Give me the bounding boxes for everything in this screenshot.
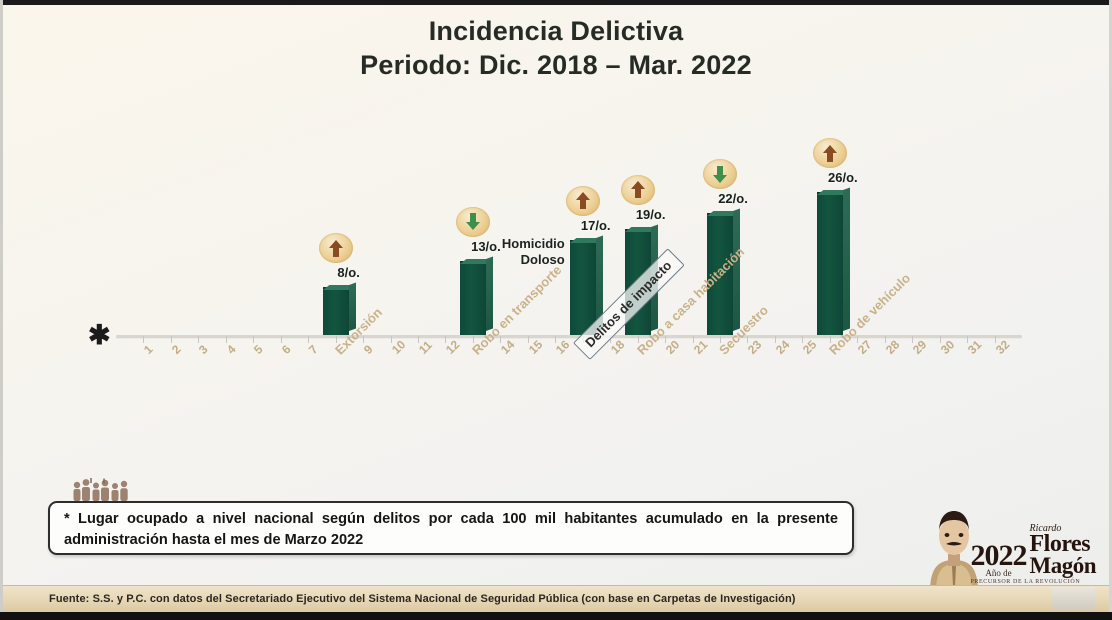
- x-axis-tick-number: 5: [251, 342, 266, 357]
- x-axis-tick: [885, 336, 886, 343]
- bar-value-label: 17/o.: [566, 218, 626, 233]
- x-axis-tick: [391, 336, 392, 343]
- bar-chart: ✱ 12345679101112141516182021232425272829…: [80, 100, 1040, 350]
- callout-line-2: Doloso: [521, 252, 565, 267]
- chart-bar[interactable]: [570, 240, 596, 336]
- source-text: Fuente: S.S. y P.C. con datos del Secret…: [3, 593, 796, 605]
- arrow-up-icon: [319, 233, 353, 263]
- arrow-up-icon: [621, 175, 655, 205]
- x-axis-tick-number: 9: [361, 342, 376, 357]
- x-axis-tick: [418, 336, 419, 343]
- bar-value-label: 22/o.: [703, 191, 763, 206]
- x-axis-tick: [171, 336, 172, 343]
- x-axis-tick-number: 4: [224, 342, 239, 357]
- x-axis-tick-number: 2: [169, 342, 184, 357]
- x-axis-tick: [528, 336, 529, 343]
- x-axis-tick: [912, 336, 913, 343]
- slide-title: Incidencia Delictiva Periodo: Dic. 2018 …: [0, 14, 1112, 82]
- x-axis-tick-number: 7: [306, 342, 321, 357]
- source-bar: Fuente: S.S. y P.C. con datos del Secret…: [3, 585, 1109, 612]
- people-group-icon: [70, 476, 134, 502]
- x-axis-tick: [226, 336, 227, 343]
- logo-name-flores: Flores: [1030, 534, 1097, 555]
- x-axis-tick-number: 1: [141, 342, 156, 357]
- title-line-2: Periodo: Dic. 2018 – Mar. 2022: [0, 48, 1112, 82]
- x-axis-tick: [363, 336, 364, 343]
- axis-asterisk-marker: ✱: [88, 326, 111, 344]
- callout-line-1: Homicidio: [502, 236, 565, 251]
- chart-bar[interactable]: [817, 192, 843, 335]
- homicidio-doloso-callout: Homicidio Doloso: [477, 236, 565, 268]
- slide-canvas: Incidencia Delictiva Periodo: Dic. 2018 …: [0, 0, 1112, 620]
- x-axis-tick: [665, 336, 666, 343]
- arrow-up-icon: [813, 138, 847, 168]
- arrow-down-icon: [703, 159, 737, 189]
- chart-bar[interactable]: [460, 261, 486, 335]
- slide-left-edge: [0, 0, 3, 620]
- arrow-down-icon: [456, 207, 490, 237]
- bar-value-label: 19/o.: [621, 207, 681, 222]
- x-axis-tick: [995, 336, 996, 343]
- footnote-text: * Lugar ocupado a nivel nacional según d…: [64, 509, 838, 551]
- logo-text-block: 2022 Año de Ricardo Flores Magón PRECURS…: [971, 524, 1097, 586]
- x-axis-tick-number: 3: [196, 342, 211, 357]
- government-logo: 2022 Año de Ricardo Flores Magón PRECURS…: [918, 504, 1096, 592]
- title-line-1: Incidencia Delictiva: [0, 14, 1112, 48]
- x-axis-tick-number: 6: [279, 342, 294, 357]
- x-axis-line: [116, 335, 1022, 338]
- source-badge-icon: [1051, 587, 1095, 609]
- letterbox-top-bar: [0, 0, 1112, 5]
- x-axis-tick: [940, 336, 941, 343]
- letterbox-bottom-bar: [0, 612, 1112, 620]
- chart-bar[interactable]: [323, 287, 349, 335]
- x-axis-tick: [308, 336, 309, 343]
- bar-value-label: 26/o.: [813, 170, 873, 185]
- logo-name-magon: Magón: [1030, 555, 1097, 576]
- x-axis-tick: [281, 336, 282, 343]
- bar-value-label: 8/o.: [319, 265, 379, 280]
- logo-year: 2022: [971, 542, 1027, 569]
- x-axis-tick: [775, 336, 776, 343]
- footnote-box: * Lugar ocupado a nivel nacional según d…: [48, 501, 854, 555]
- arrow-up-icon: [566, 186, 600, 216]
- x-axis-tick: [693, 336, 694, 343]
- x-axis-tick: [967, 336, 968, 343]
